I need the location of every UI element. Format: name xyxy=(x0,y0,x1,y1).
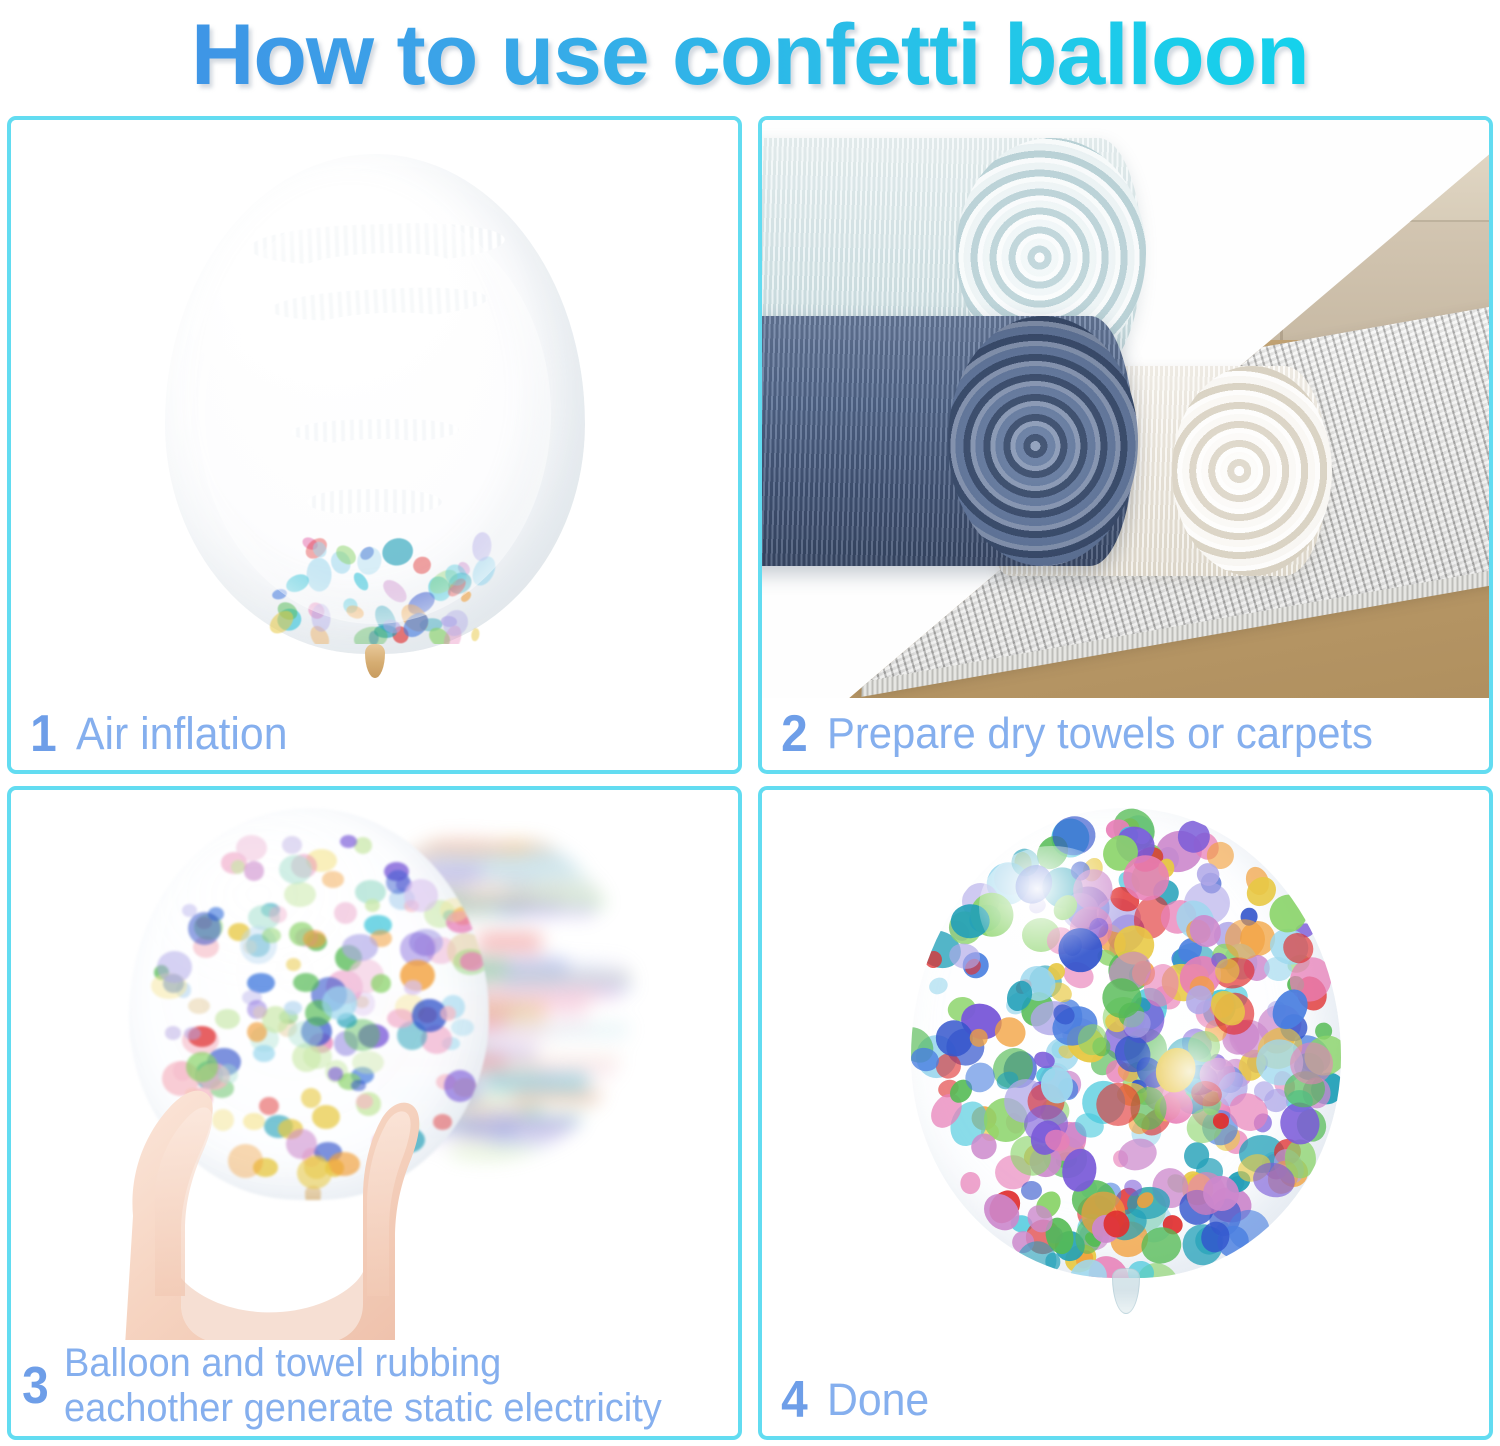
confetti-dot xyxy=(293,973,319,992)
step-label: Balloon and towel rubbing eachother gene… xyxy=(64,1341,662,1431)
confetti-dot xyxy=(182,904,197,917)
step-2-media xyxy=(762,120,1489,698)
confetti-dot xyxy=(269,906,288,923)
confetti-dot xyxy=(379,534,416,569)
balloon-knot-icon xyxy=(1112,1268,1140,1314)
page-title: How to use confetti balloon xyxy=(191,6,1309,105)
hand-icon xyxy=(119,1046,459,1340)
confetti-dot xyxy=(341,596,360,616)
confetti-dot xyxy=(959,1171,981,1195)
motion-streak xyxy=(450,1147,573,1160)
motion-streak xyxy=(514,1124,631,1144)
confetti-dot xyxy=(379,576,410,606)
confetti-dot xyxy=(301,534,330,563)
confetti-dot xyxy=(410,554,434,578)
confetti-dot xyxy=(344,603,365,621)
confetti-dot xyxy=(340,835,357,848)
step-number: 2 xyxy=(781,708,808,760)
step-panel-4: 4 Done xyxy=(758,786,1493,1440)
confetti-dot xyxy=(215,1009,240,1029)
balloon-highlight-streak xyxy=(290,418,458,445)
white-balloon-scene xyxy=(11,120,738,698)
step-1-caption: 1 Air inflation xyxy=(11,698,738,770)
confetti-dot xyxy=(468,552,500,589)
confetti-dot xyxy=(284,570,312,595)
confetti-dot xyxy=(969,1028,988,1047)
balloon-highlight xyxy=(1134,1015,1246,1128)
confetti-dot xyxy=(358,544,376,562)
confetti-dot xyxy=(282,836,302,854)
confetti-dot xyxy=(271,588,288,601)
confetti-dot xyxy=(157,951,192,983)
step-1-media xyxy=(11,120,738,698)
confetti-dot xyxy=(284,882,316,908)
towels-carpet-composite xyxy=(762,120,1489,698)
step-panel-3: 3 Balloon and towel rubbing eachother ge… xyxy=(7,786,742,1440)
confetti-dot xyxy=(404,587,438,618)
confetti-dot xyxy=(334,902,357,924)
confetti-dot xyxy=(387,1009,414,1029)
confetti-dot xyxy=(303,930,327,948)
confetti-dot xyxy=(440,1006,456,1021)
settled-confetti-cluster xyxy=(265,514,500,644)
step-number: 3 xyxy=(22,1360,49,1412)
step-4-media xyxy=(762,790,1489,1364)
confetti-dot xyxy=(311,539,329,558)
towel-spiral xyxy=(948,316,1138,566)
step-label: Air inflation xyxy=(76,711,287,757)
confetti-dot xyxy=(306,557,332,591)
motion-streak xyxy=(513,1092,612,1102)
confetti-dot xyxy=(1290,1042,1333,1085)
confetti-dot xyxy=(456,560,473,578)
confetti-dot xyxy=(342,934,378,960)
page-header: How to use confetti balloon xyxy=(0,0,1500,110)
confetti-dot xyxy=(286,958,301,971)
step-number: 1 xyxy=(30,708,57,760)
confetti-dot xyxy=(441,561,470,590)
step-3-media xyxy=(11,790,738,1340)
towel-spiral xyxy=(1172,366,1332,576)
step-2-caption: 2 Prepare dry towels or carpets xyxy=(762,698,1489,770)
confetti-dot xyxy=(322,986,357,1020)
confetti-dot xyxy=(371,974,391,993)
balloon-knot-icon xyxy=(365,644,385,678)
confetti-balloon-icon xyxy=(911,808,1341,1278)
step-3-caption: 3 Balloon and towel rubbing eachother ge… xyxy=(11,1336,738,1436)
step-4-caption: 4 Done xyxy=(762,1364,1489,1436)
white-balloon-icon xyxy=(165,154,585,654)
balloon-highlight xyxy=(979,846,1125,968)
confetti-dot xyxy=(333,541,360,568)
confetti-dot xyxy=(301,535,320,552)
confetti-dot xyxy=(279,855,312,884)
confetti-dot xyxy=(188,998,210,1014)
motion-streak xyxy=(477,933,542,949)
steps-grid: 1 Air inflation xyxy=(7,116,1493,1440)
balloon-highlight-streak xyxy=(269,283,489,324)
confetti-dot xyxy=(459,590,473,604)
step-panel-2: 2 Prepare dry towels or carpets xyxy=(758,116,1493,774)
finished-balloon-scene xyxy=(762,790,1489,1364)
confetti-dot xyxy=(365,899,379,911)
confetti-dot xyxy=(425,565,461,599)
confetti-dot xyxy=(244,861,264,880)
rubbing-scene xyxy=(11,790,738,1340)
confetti-dot xyxy=(926,975,950,998)
confetti-dot xyxy=(322,871,345,888)
confetti-dot xyxy=(165,1026,182,1039)
confetti-dot xyxy=(262,928,281,944)
confetti-dot xyxy=(284,1001,302,1015)
motion-streak xyxy=(496,904,597,918)
balloon-highlight-streak xyxy=(248,220,505,269)
step-panel-1: 1 Air inflation xyxy=(7,116,742,774)
confetti-dot xyxy=(404,879,438,912)
confetti-dot xyxy=(353,544,384,578)
balloon-highlight-streak xyxy=(307,489,441,515)
confetti-dot xyxy=(236,835,267,861)
confetti-dot xyxy=(451,1019,474,1036)
confetti-dot xyxy=(471,532,493,563)
step-label: Prepare dry towels or carpets xyxy=(827,712,1373,757)
step-number: 4 xyxy=(781,1374,808,1426)
motion-streak xyxy=(493,1024,631,1034)
confetti-dot xyxy=(188,912,221,945)
confetti-dot xyxy=(404,980,422,994)
confetti-dot xyxy=(471,628,480,642)
confetti-dot xyxy=(351,570,371,593)
navy-towel-roll xyxy=(762,316,1134,566)
confetti-dot xyxy=(424,572,454,604)
confetti-dot xyxy=(311,603,332,632)
step-label: Done xyxy=(827,1377,929,1423)
confetti-dot xyxy=(328,548,355,577)
